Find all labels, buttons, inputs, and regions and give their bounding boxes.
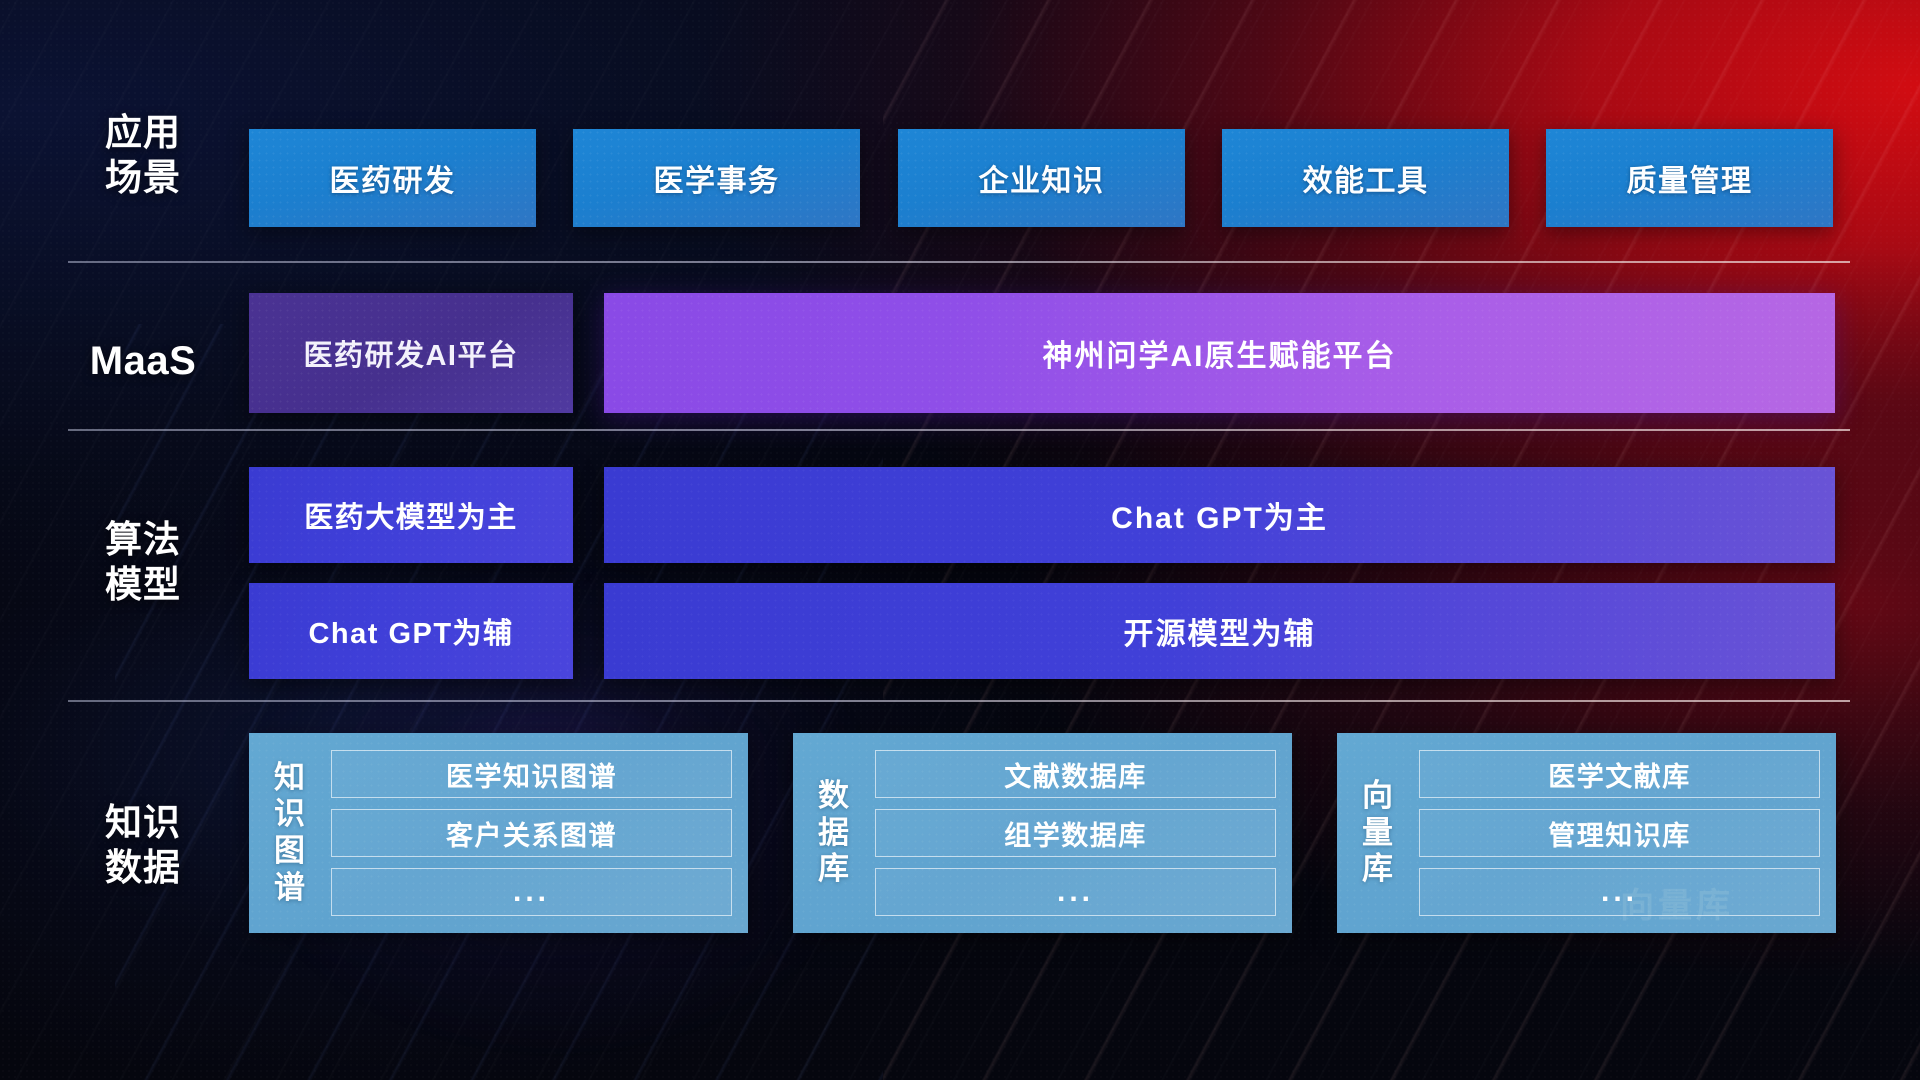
knowledge-panel-knowledge-graph[interactable]: 知 识 图 谱 医学知识图谱 客户关系图谱 ... <box>249 733 748 933</box>
scenario-box-4-label: 效能工具 <box>1303 156 1429 200</box>
scenario-box-2-label: 医学事务 <box>654 156 780 200</box>
row-label-maas: MaaS <box>68 337 218 386</box>
algorithm-box-primary-domain-label: 医药大模型为主 <box>304 494 518 536</box>
maas-box-2-label: 神州问学AI原生赋能平台 <box>1043 331 1397 375</box>
row-label-line-2: 场景 <box>68 155 218 200</box>
kd1-title-char-3: 图 <box>249 833 331 870</box>
scenario-box-2[interactable]: 医学事务 <box>573 129 860 227</box>
kd2-item-3-label: ... <box>1057 875 1094 909</box>
row-label-application-scenarios: 应用 场景 <box>68 110 218 200</box>
scenario-box-3-label: 企业知识 <box>979 156 1105 200</box>
kd3-item-2[interactable]: 管理知识库 <box>1419 809 1820 857</box>
algorithm-box-primary-general-label: Chat GPT为主 <box>1111 493 1328 537</box>
scenario-box-1-label: 医药研发 <box>330 156 456 200</box>
knowledge-panel-3-items: 医学文献库 管理知识库 ... <box>1419 750 1822 916</box>
kd3-item-2-label: 管理知识库 <box>1548 814 1691 853</box>
row-label-knowledge-data: 知识 数据 <box>68 800 218 890</box>
divider-1 <box>68 261 1850 263</box>
kd2-item-1-label: 文献数据库 <box>1004 755 1147 794</box>
algorithm-box-secondary-domain-label: Chat GPT为辅 <box>308 610 513 652</box>
kd1-item-2[interactable]: 客户关系图谱 <box>331 809 732 857</box>
knowledge-panel-1-items: 医学知识图谱 客户关系图谱 ... <box>331 750 734 916</box>
algorithm-box-primary-general[interactable]: Chat GPT为主 <box>604 467 1835 563</box>
knowledge-panel-2-title: 数 据 库 <box>793 778 875 888</box>
scenario-box-5-label: 质量管理 <box>1627 156 1753 200</box>
algorithm-box-secondary-general-label: 开源模型为辅 <box>1124 609 1316 653</box>
kd1-item-1-label: 医学知识图谱 <box>446 755 617 794</box>
kd2-title-char-2: 据 <box>793 815 875 852</box>
kd2-title-char-1: 数 <box>793 778 875 815</box>
kd1-title-char-2: 识 <box>249 796 331 833</box>
kd2-item-2[interactable]: 组学数据库 <box>875 809 1276 857</box>
kd3-item-1[interactable]: 医学文献库 <box>1419 750 1820 798</box>
kd3-title-char-3: 库 <box>1337 851 1419 888</box>
maas-box-1[interactable]: 医药研发AI平台 <box>249 293 573 413</box>
kd1-item-3[interactable]: ... <box>331 868 732 916</box>
kd3-title-char-2: 量 <box>1337 815 1419 852</box>
kd2-title-char-3: 库 <box>793 851 875 888</box>
algorithm-box-primary-domain[interactable]: 医药大模型为主 <box>249 467 573 563</box>
knowledge-panel-database[interactable]: 数 据 库 文献数据库 组学数据库 ... <box>793 733 1292 933</box>
divider-3 <box>68 700 1850 702</box>
kd3-item-3-label: ... <box>1601 875 1638 909</box>
scenario-box-5[interactable]: 质量管理 <box>1546 129 1833 227</box>
kd3-item-3[interactable]: ... <box>1419 868 1820 916</box>
row-label-algorithm-models: 算法 模型 <box>68 517 218 607</box>
scenario-box-3[interactable]: 企业知识 <box>898 129 1185 227</box>
kd2-item-2-label: 组学数据库 <box>1004 814 1147 853</box>
algorithm-box-secondary-domain[interactable]: Chat GPT为辅 <box>249 583 573 679</box>
row-label-maas-text: MaaS <box>68 337 218 386</box>
kd3-item-1-label: 医学文献库 <box>1548 755 1691 794</box>
kd1-item-3-label: ... <box>513 875 550 909</box>
divider-2 <box>68 429 1850 431</box>
kd2-item-3[interactable]: ... <box>875 868 1276 916</box>
knowledge-panel-2-items: 文献数据库 组学数据库 ... <box>875 750 1278 916</box>
kd1-item-2-label: 客户关系图谱 <box>446 814 617 853</box>
row-label-kd-line-1: 知识 <box>68 800 218 845</box>
row-label-line-1: 应用 <box>68 110 218 155</box>
knowledge-panel-3-title: 向 量 库 <box>1337 778 1419 888</box>
kd1-title-char-4: 谱 <box>249 870 331 907</box>
knowledge-panel-vector-store[interactable]: 向 量 库 医学文献库 管理知识库 ... <box>1337 733 1836 933</box>
algorithm-box-secondary-general[interactable]: 开源模型为辅 <box>604 583 1835 679</box>
row-label-kd-line-2: 数据 <box>68 845 218 890</box>
kd1-item-1[interactable]: 医学知识图谱 <box>331 750 732 798</box>
kd2-item-1[interactable]: 文献数据库 <box>875 750 1276 798</box>
kd3-title-char-1: 向 <box>1337 778 1419 815</box>
maas-box-2[interactable]: 神州问学AI原生赋能平台 <box>604 293 1835 413</box>
maas-box-1-label: 医药研发AI平台 <box>303 332 518 374</box>
scenario-box-1[interactable]: 医药研发 <box>249 129 536 227</box>
knowledge-panel-1-title: 知 识 图 谱 <box>249 760 331 906</box>
kd1-title-char-1: 知 <box>249 760 331 797</box>
slide-canvas: 应用 场景 医药研发 医学事务 企业知识 效能工具 质量管理 MaaS 医药研发… <box>0 0 1920 1080</box>
row-label-algo-line-2: 模型 <box>68 562 218 607</box>
scenario-box-4[interactable]: 效能工具 <box>1222 129 1509 227</box>
row-label-algo-line-1: 算法 <box>68 517 218 562</box>
